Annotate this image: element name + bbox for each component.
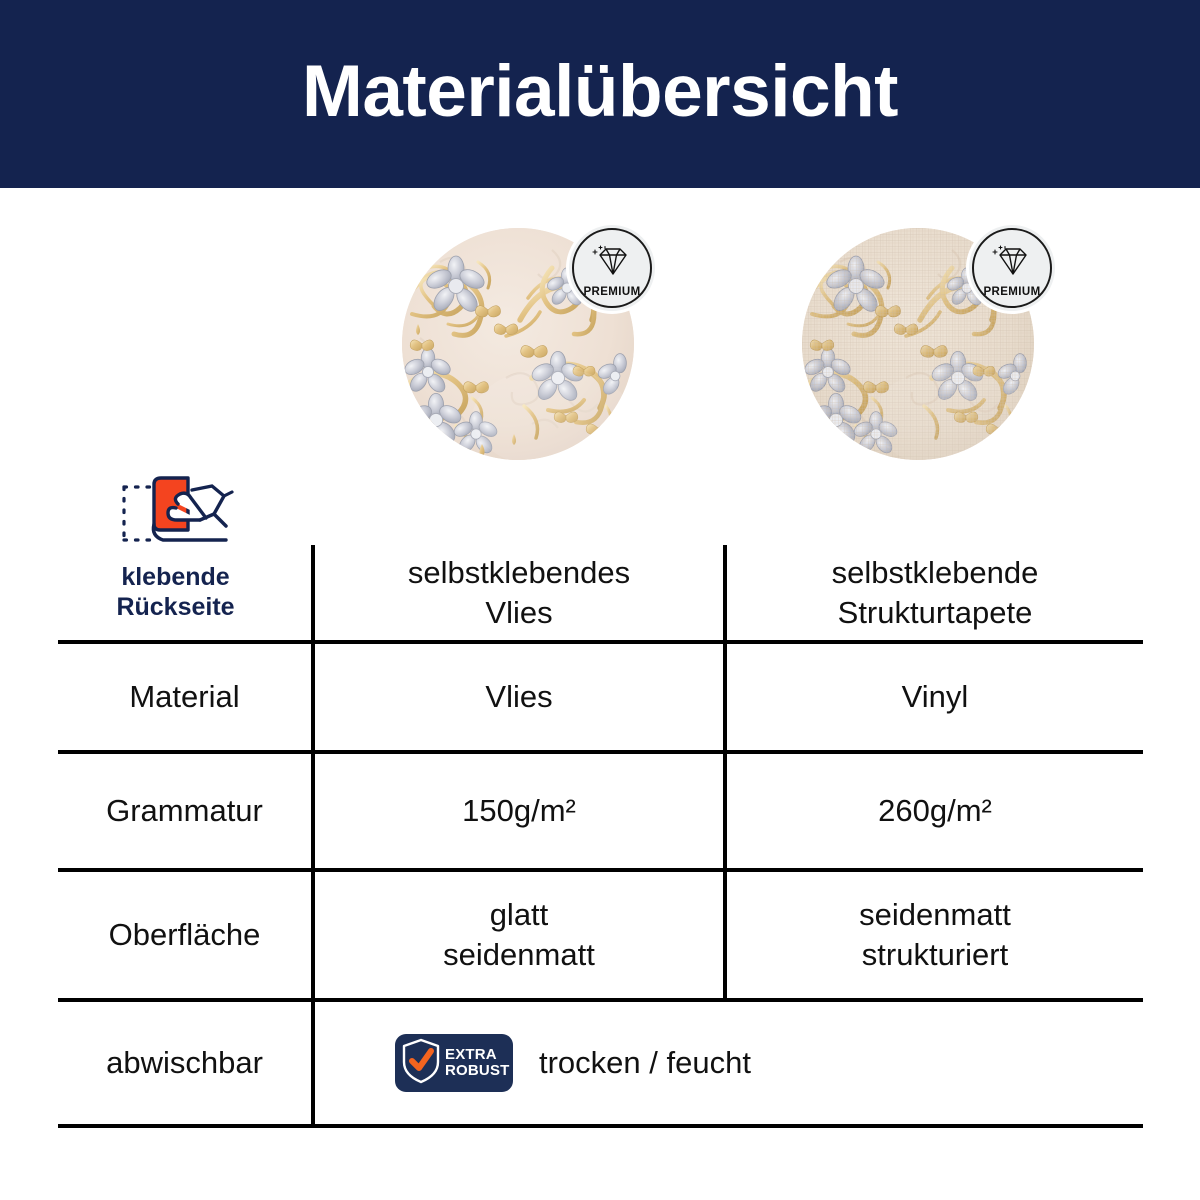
table-cell-r4c2: glatt seidenmatt <box>315 872 723 998</box>
shield-check-icon <box>401 1038 441 1089</box>
table-cell-r4c2-line1: glatt <box>490 897 549 932</box>
table-cell-r3c2-value: 150g/m² <box>315 791 723 831</box>
table-cell-r1c2: selbstklebendes Vlies <box>315 545 723 640</box>
table-row-label-grammatur: Grammatur <box>58 754 311 868</box>
table-cell-r2c1: Material <box>58 677 311 717</box>
table-rule <box>58 1124 1143 1128</box>
table-cell-r3c3: 260g/m² <box>727 754 1143 868</box>
table-cell-r4c3-line2: strukturiert <box>862 937 1008 972</box>
table-cell-r3c1: Grammatur <box>58 791 311 831</box>
extra-robust-line2: ROBUST <box>445 1062 510 1079</box>
extra-robust-badge-text: EXTRA ROBUST <box>445 1047 510 1079</box>
premium-badge: PREMIUM <box>966 222 1058 314</box>
table-row-label-material: Material <box>58 644 311 750</box>
table-cell-r4c2-line2: seidenmatt <box>443 937 595 972</box>
premium-badge: PREMIUM <box>566 222 658 314</box>
page-title: Materialübersicht <box>0 0 1200 188</box>
table-cell-r2c2: Vlies <box>315 644 723 750</box>
table-cell-r2c3-value: Vinyl <box>727 677 1143 717</box>
table-cell-r5c1: abwischbar <box>58 1043 311 1083</box>
table-cell-r1c3-line2: Strukturtapete <box>838 595 1033 630</box>
table-cell-r5-value: trocken / feucht <box>539 1045 751 1081</box>
table-cell-r2c3: Vinyl <box>727 644 1143 750</box>
table-row-label-abwischbar: abwischbar <box>58 1002 311 1124</box>
table-row-label-oberflaeche: Oberfläche <box>58 872 311 998</box>
page-header: Materialübersicht <box>0 0 1200 188</box>
table-cell-r1c3-line1: selbstklebende <box>832 555 1039 590</box>
table-cell-r1c2-line1: selbstklebendes <box>408 555 630 590</box>
table-cell-r3c3-value: 260g/m² <box>727 791 1143 831</box>
table-cell-r4c1: Oberfläche <box>58 915 311 955</box>
table-cell-r1c2-line2: Vlies <box>485 595 552 630</box>
table-cell-r1c3: selbstklebende Strukturtapete <box>727 545 1143 640</box>
extra-robust-line1: EXTRA <box>445 1046 497 1063</box>
table-cell-r4c3: seidenmatt strukturiert <box>727 872 1143 998</box>
extra-robust-badge: EXTRA ROBUST <box>395 1034 513 1092</box>
table-cell-r3c2: 150g/m² <box>315 754 723 868</box>
material-comparison-table: selbstklebendes Vlies selbstklebende Str… <box>58 545 1143 1128</box>
material-overview-page: Materialübersicht <box>0 0 1200 1200</box>
table-cell-r5-span: EXTRA ROBUST trocken / feucht <box>315 1002 1143 1124</box>
swatch-strukturtapete: PREMIUM <box>802 228 1034 460</box>
swatch-vlies: PREMIUM <box>402 228 634 460</box>
table-cell-r4c3-line1: seidenmatt <box>859 897 1011 932</box>
premium-badge-ring <box>572 228 652 308</box>
table-cell-r2c2-value: Vlies <box>315 677 723 717</box>
premium-badge-ring <box>972 228 1052 308</box>
